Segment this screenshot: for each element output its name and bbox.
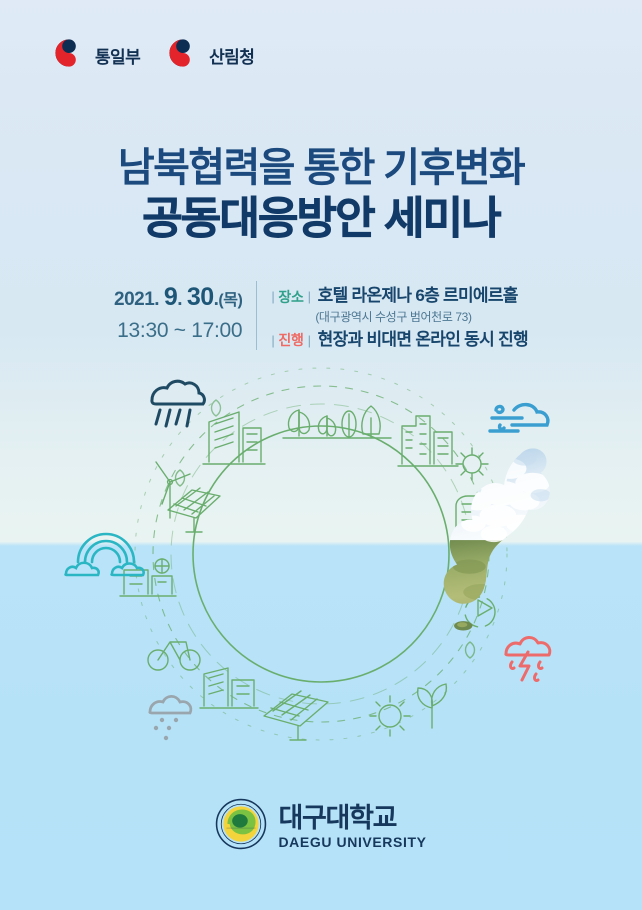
university-name-ko: 대구대학교 — [278, 805, 426, 832]
climate-illustration — [0, 358, 642, 778]
event-info: 2021. 9. 30.(목) 13:30 ~ 17:00 장소 호텔 라온제나… — [0, 281, 642, 350]
event-schedule: 2021. 9. 30.(목) 13:30 ~ 17:00 — [114, 281, 256, 346]
university-name-en: DAEGU UNIVERSITY — [278, 835, 426, 849]
taegeuk-icon — [166, 36, 200, 75]
detail-row-venue: 장소 호텔 라온제나 6층 르미에르홀 — [271, 281, 528, 307]
snow-cloud-icon — [150, 696, 191, 740]
organizer-logo-forest: 산림청 — [166, 36, 254, 75]
detail-row-format: 진행 현장과 비대면 온라인 동시 진행 — [271, 325, 528, 351]
venue-label: 장소 — [271, 287, 310, 307]
rain-cloud-icon — [152, 381, 204, 426]
title-line-1: 남북협력을 통한 기후변화 — [0, 146, 642, 191]
venue-value: 호텔 라온제나 6층 르미에르홀 — [318, 281, 518, 306]
date-dot-1: . — [177, 289, 182, 310]
organizer-logos: 통일부 산림청 — [52, 36, 254, 75]
date-year: 2021. — [114, 289, 159, 310]
event-details: 장소 호텔 라온제나 6층 르미에르홀 (대구광역시 수성구 범어천로 73) … — [256, 281, 528, 350]
poster-canvas: 통일부 산림청 남북협력을 통한 기후변화 공동대응방안 세미나 2021. 9… — [0, 0, 642, 910]
format-label: 진행 — [271, 330, 310, 350]
rainbow-cloud-icon — [66, 534, 144, 575]
organizer-logo-unification: 통일부 — [52, 36, 140, 75]
university-name-block: 대구대학교 DAEGU UNIVERSITY — [278, 805, 426, 849]
organizer-name: 통일부 — [95, 43, 140, 68]
eco-ring-graphic — [120, 368, 507, 740]
poster-title: 남북협력을 통한 기후변화 공동대응방안 세미나 — [0, 146, 642, 245]
venue-address: (대구광역시 수성구 범어천로 73) — [315, 308, 528, 325]
taegeuk-icon — [52, 36, 86, 75]
date-weekday: (목) — [218, 292, 242, 309]
thunderstorm-icon — [506, 637, 550, 680]
format-value: 현장과 비대면 온라인 동시 진행 — [318, 325, 528, 350]
event-date: 2021. 9. 30.(목) — [114, 281, 242, 315]
date-day: 30 — [187, 283, 214, 311]
event-time: 13:30 ~ 17:00 — [114, 316, 242, 346]
university-logo: 대구대학교 DAEGU UNIVERSITY — [0, 798, 642, 855]
wind-cloud-icon — [490, 405, 548, 431]
organizer-name: 산림청 — [209, 43, 254, 68]
date-month: 9 — [164, 283, 177, 311]
daegu-university-emblem-icon — [215, 798, 267, 855]
title-line-2: 공동대응방안 세미나 — [0, 193, 642, 245]
